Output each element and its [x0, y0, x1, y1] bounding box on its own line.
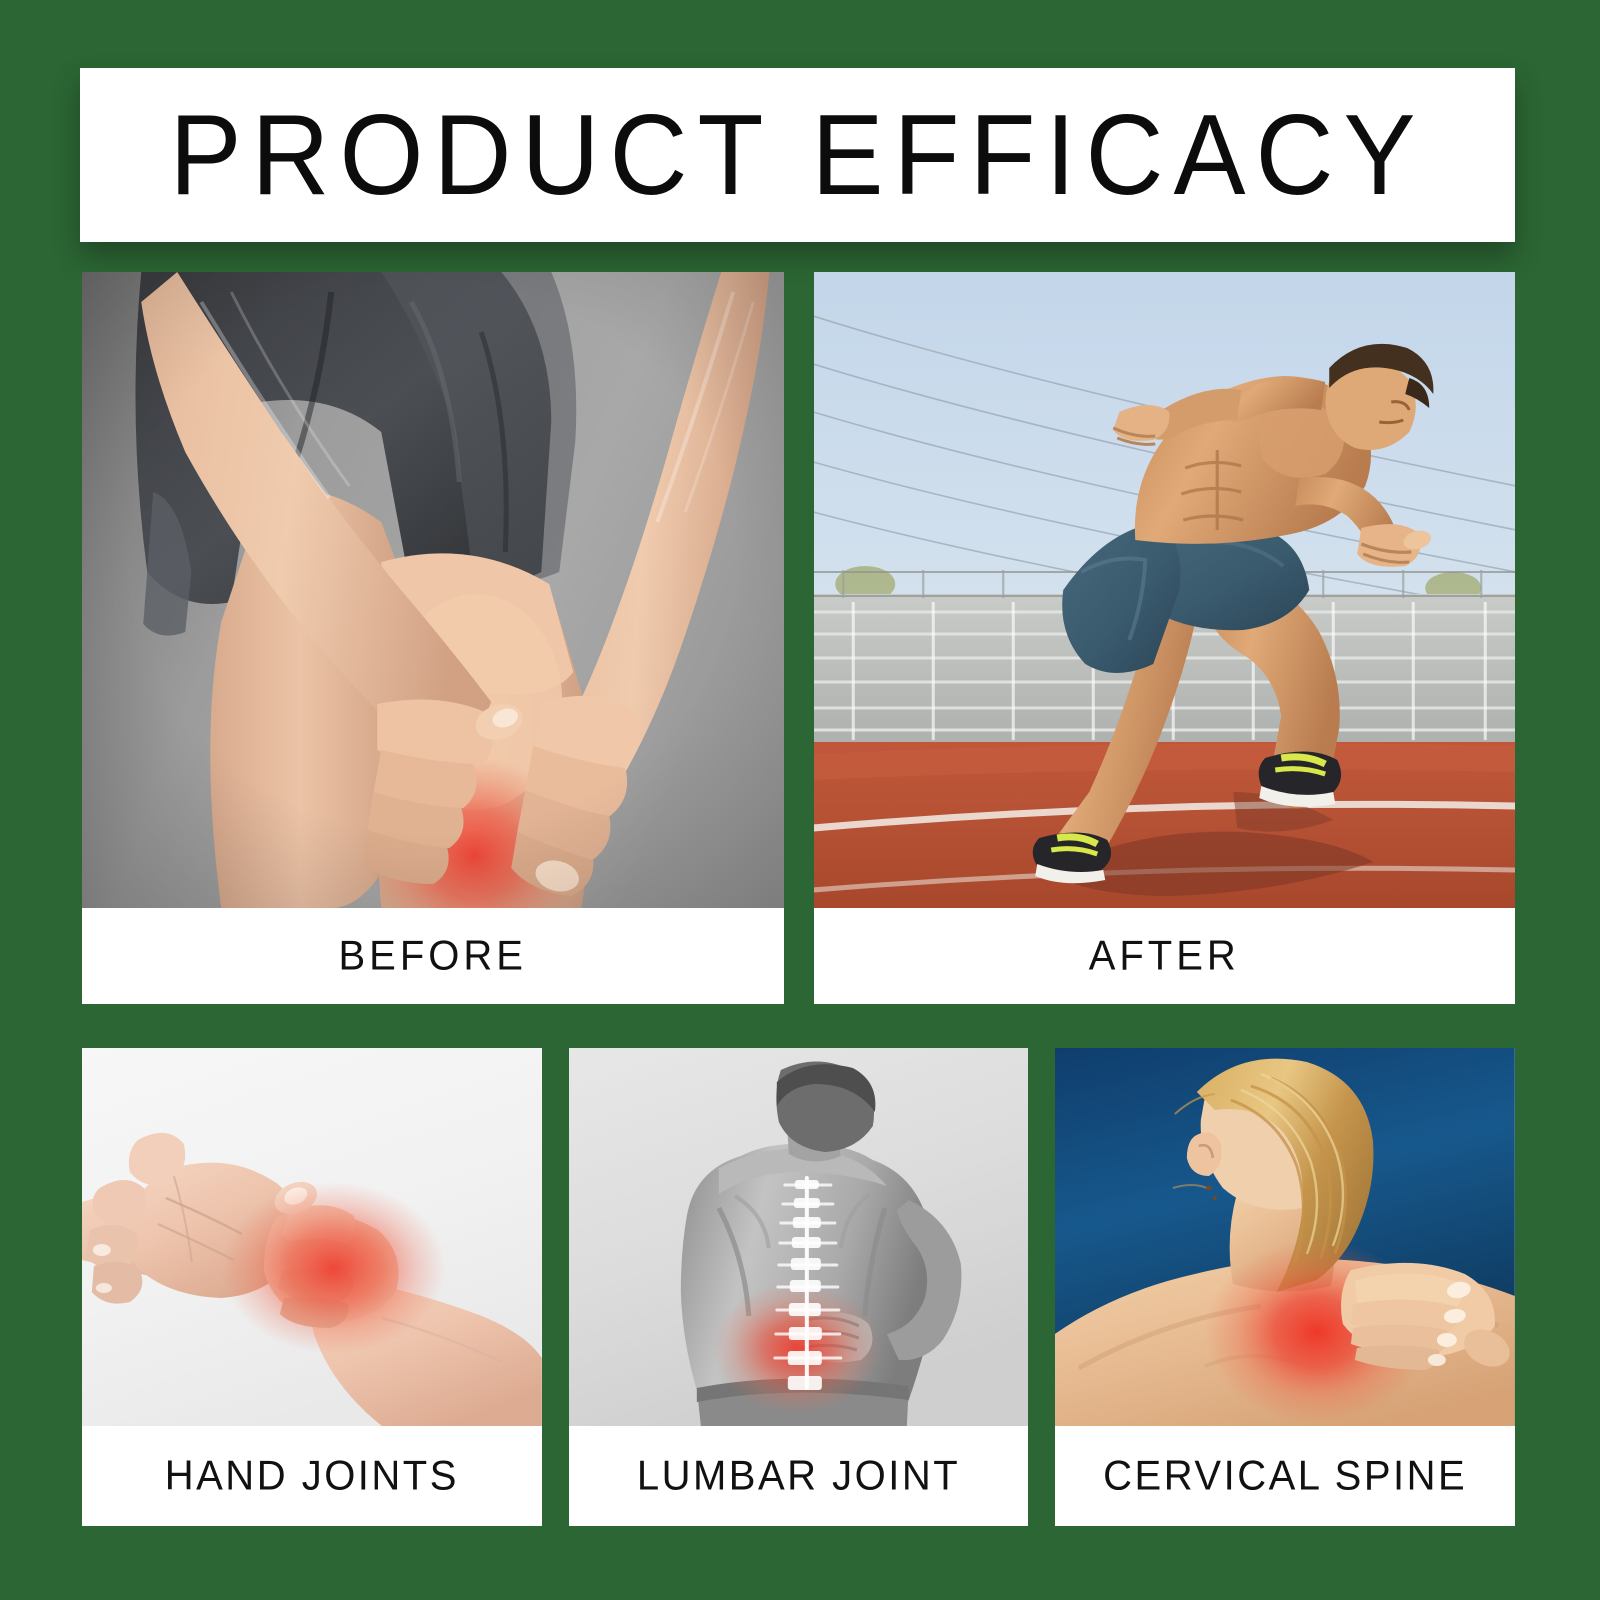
- header-banner: PRODUCT EFFICACY: [80, 68, 1515, 242]
- card-hand-joints[interactable]: HAND JOINTS: [82, 1048, 542, 1526]
- lower-back-pain-photo: [569, 1048, 1029, 1426]
- caption-text: LUMBAR JOINT: [637, 1452, 960, 1499]
- before-after-row: BEFORE: [82, 272, 1515, 1004]
- hand-wrist-pain-photo: [82, 1048, 542, 1426]
- caption-text: CERVICAL SPINE: [1103, 1452, 1467, 1499]
- card-lumbar-joint[interactable]: LUMBAR JOINT: [569, 1048, 1029, 1526]
- card-caption-cervical-spine: CERVICAL SPINE: [1055, 1426, 1515, 1526]
- caption-text: AFTER: [1089, 932, 1240, 979]
- card-caption-before: BEFORE: [82, 908, 784, 1004]
- condition-row: HAND JOINTS: [82, 1048, 1515, 1526]
- card-cervical-spine[interactable]: CERVICAL SPINE: [1055, 1048, 1515, 1526]
- neck-pain-photo: [1055, 1048, 1515, 1426]
- caption-text: HAND JOINTS: [165, 1452, 459, 1499]
- card-caption-hand-joints: HAND JOINTS: [82, 1426, 542, 1526]
- card-caption-after: AFTER: [814, 908, 1516, 1004]
- card-caption-lumbar-joint: LUMBAR JOINT: [569, 1426, 1029, 1526]
- card-before[interactable]: BEFORE: [82, 272, 784, 1004]
- card-after[interactable]: AFTER: [814, 272, 1516, 1004]
- caption-text: BEFORE: [339, 932, 527, 979]
- knee-pain-photo: [82, 272, 784, 908]
- page-title: PRODUCT EFFICACY: [169, 98, 1425, 212]
- sprinting-runner-photo: [814, 272, 1516, 908]
